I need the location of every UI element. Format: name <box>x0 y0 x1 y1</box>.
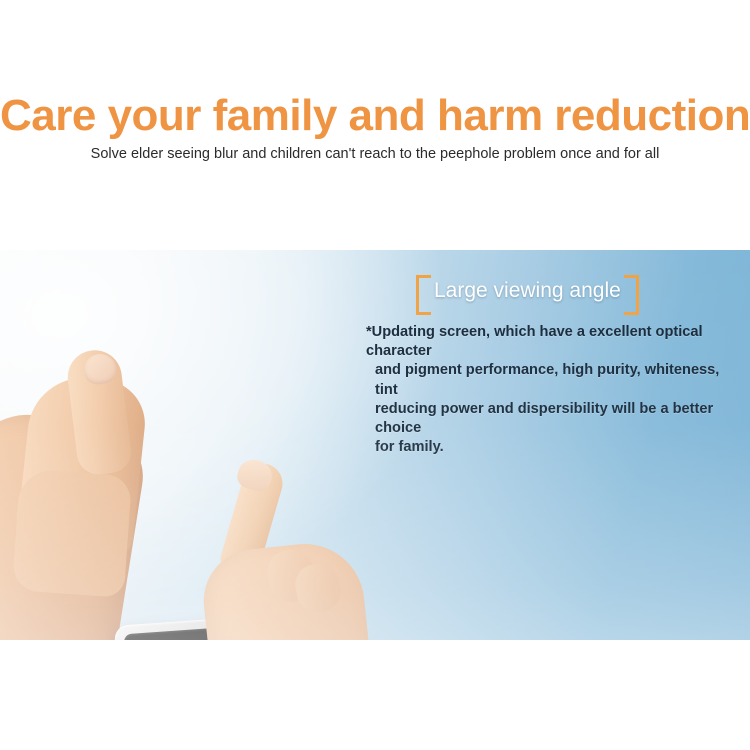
banner-text-column: Large viewing angle *Updating screen, wh… <box>366 274 744 457</box>
section-tag-label: Large viewing angle <box>434 279 621 302</box>
hero-banner: MENU ●○ Large viewing angle <box>0 250 750 640</box>
description-line: and pigment performance, high purity, wh… <box>366 361 740 399</box>
section-tag-inner: Large viewing angle <box>416 274 639 308</box>
description-line: *Updating screen, which have a excellent… <box>366 323 740 361</box>
description-line: reducing power and dispersibility will b… <box>366 400 740 438</box>
product-promo-page: Care your family and harm reduction Solv… <box>0 0 750 750</box>
header-section: Care your family and harm reduction Solv… <box>0 0 750 250</box>
feature-description: *Updating screen, which have a excellent… <box>366 323 740 457</box>
bracket-right-icon <box>624 275 639 315</box>
page-subtitle: Solve elder seeing blur and children can… <box>0 144 750 164</box>
page-title: Care your family and harm reduction <box>0 92 750 140</box>
hand-device-illustration: MENU ●○ <box>0 250 370 640</box>
section-tag: Large viewing angle <box>416 274 744 310</box>
bracket-left-icon <box>416 275 431 315</box>
left-knuckles <box>12 468 132 598</box>
description-line: for family. <box>366 438 740 457</box>
footer-whitespace <box>0 640 750 750</box>
